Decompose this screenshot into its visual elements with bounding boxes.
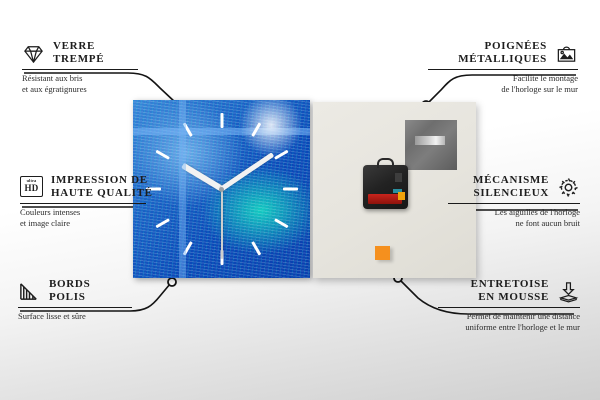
callout-title: ENTRETOISE EN MOUSSE <box>471 278 549 304</box>
callout-subtitle: Permet de maintenir une distance uniform… <box>430 311 580 332</box>
callout-subtitle: Résistant aux bris et aux égratignures <box>22 73 157 94</box>
callout-entretoise-mousse: ENTRETOISE EN MOUSSE Permet de maintenir… <box>430 278 580 332</box>
mechanism-switch <box>395 173 402 182</box>
battery-plus-terminal <box>398 192 405 200</box>
callout-subtitle: Les aiguilles de l'horloge ne font aucun… <box>440 207 580 228</box>
picture-hanger-icon <box>555 42 578 65</box>
callout-subtitle: Surface lisse et sûre <box>18 311 153 322</box>
callout-title: VERRE TREMPÉ <box>53 40 104 66</box>
infographic-stage: VERRE TREMPÉ Résistant aux bris et aux é… <box>0 0 600 400</box>
foam-spacer-pad <box>375 246 390 260</box>
gear-icon <box>557 176 580 199</box>
callout-bords-polis: BORDS POLIS Surface lisse et sûre <box>18 278 153 322</box>
callout-subtitle: Couleurs intenses et image claire <box>20 207 170 228</box>
callout-poignees-metalliques: POIGNÉES MÉTALLIQUES Facilite le montage… <box>420 40 578 94</box>
ultra-hd-icon: ultra HD <box>20 176 43 199</box>
diamond-icon <box>22 42 45 65</box>
callout-header: MÉCANISME SILENCIEUX <box>440 174 580 200</box>
metal-hanger-plate <box>405 120 457 170</box>
beveled-edge-icon <box>18 280 41 303</box>
callout-header: ultra HD IMPRESSION DE HAUTE QUALITÉ <box>20 174 170 200</box>
hd-icon-bottom-text: HD <box>24 184 38 193</box>
callout-title: BORDS POLIS <box>49 278 90 304</box>
callout-rule <box>18 307 132 308</box>
callout-header: POIGNÉES MÉTALLIQUES <box>420 40 578 66</box>
mechanism-hook <box>377 158 394 168</box>
callout-rule <box>22 69 138 70</box>
callout-rule <box>20 203 146 204</box>
callout-title: IMPRESSION DE HAUTE QUALITÉ <box>51 174 153 200</box>
clock-center-cap <box>219 187 224 192</box>
down-arrow-pad-icon <box>557 280 580 303</box>
quartz-mechanism <box>363 165 408 209</box>
callout-mecanisme-silencieux: MÉCANISME SILENCIEUX Les aiguilles de l'… <box>440 174 580 228</box>
product-image <box>133 100 476 285</box>
callout-title: MÉCANISME SILENCIEUX <box>473 174 549 200</box>
battery <box>368 194 402 204</box>
callout-impression-hd: ultra HD IMPRESSION DE HAUTE QUALITÉ Cou… <box>20 174 170 228</box>
callout-header: ENTRETOISE EN MOUSSE <box>430 278 580 304</box>
callout-rule <box>438 307 580 308</box>
callout-title: POIGNÉES MÉTALLIQUES <box>458 40 547 66</box>
callout-header: VERRE TREMPÉ <box>22 40 157 66</box>
clock-second-hand <box>221 189 223 259</box>
hanger-slot <box>415 136 445 145</box>
callout-rule <box>428 69 578 70</box>
callout-verre-trempe: VERRE TREMPÉ Résistant aux bris et aux é… <box>22 40 157 94</box>
callout-subtitle: Facilite le montage de l'horloge sur le … <box>420 73 578 94</box>
callout-header: BORDS POLIS <box>18 278 153 304</box>
callout-rule <box>448 203 580 204</box>
